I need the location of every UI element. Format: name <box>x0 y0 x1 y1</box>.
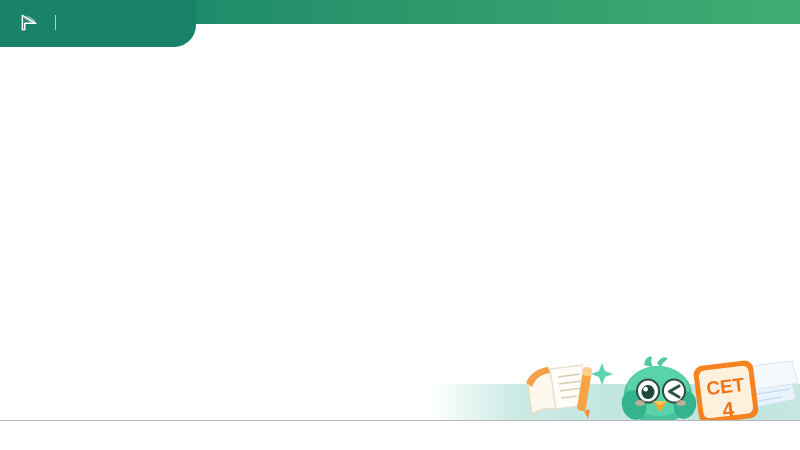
cet4-bird-mascot <box>618 357 699 421</box>
lesson-content <box>62 109 662 153</box>
brand-logo-tab <box>0 0 196 47</box>
sparkle-icon <box>591 363 613 385</box>
cet4-card: CET 4 <box>693 360 760 421</box>
footer-divider-line <box>0 420 800 421</box>
spacer-1 <box>62 109 662 131</box>
footer-mascot-illustration: CET 4 <box>520 349 800 421</box>
logo-divider <box>55 15 56 30</box>
pennant-flag-icon <box>20 13 39 32</box>
header-slogan <box>784 7 788 18</box>
spacer-2 <box>62 131 662 153</box>
brand-logo-row <box>20 11 65 33</box>
footer-white-strip <box>0 421 800 450</box>
